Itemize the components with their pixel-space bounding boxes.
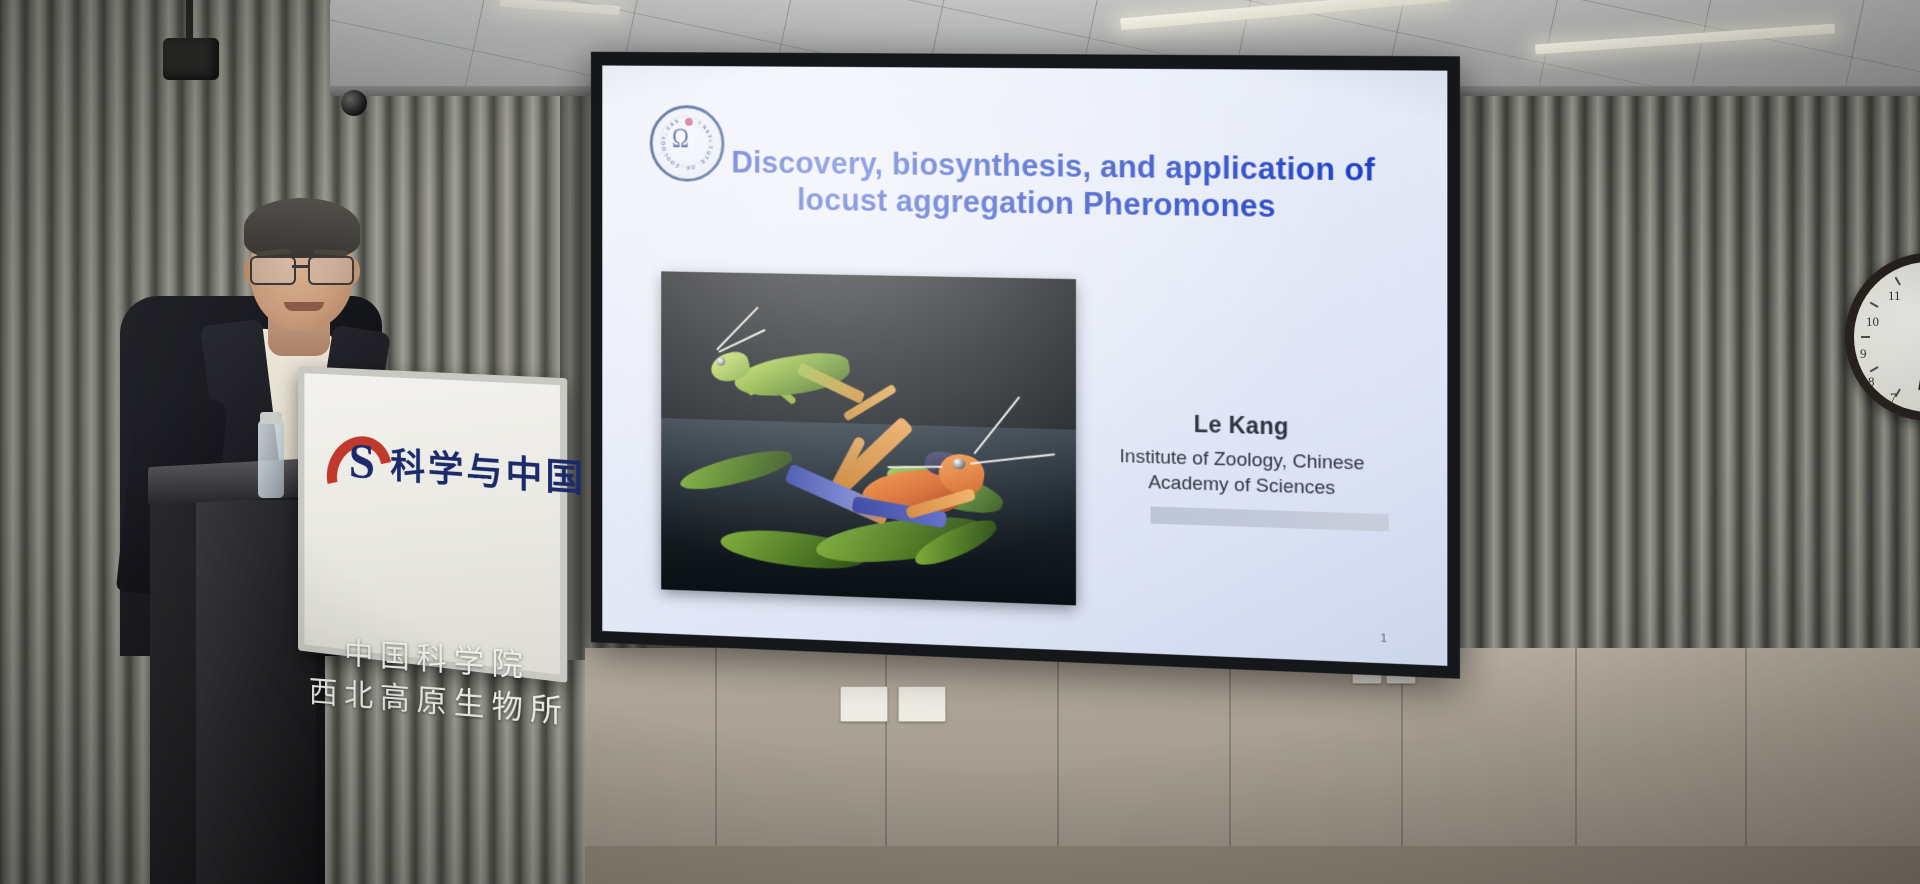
projection-screen-frame: Ω INSTITUTE OF ZOOLOGY,CAS Discovery, bi… [591, 52, 1460, 679]
water-bottle [258, 420, 284, 498]
clock-numeral: 11 [1888, 288, 1901, 304]
projected-slide: Ω INSTITUTE OF ZOOLOGY,CAS Discovery, bi… [602, 65, 1447, 665]
author-block: Le Kang Institute of Zoology, Chinese Ac… [1074, 408, 1412, 504]
baseboard [585, 846, 1920, 884]
slide-title: Discovery, biosynthesis, and application… [684, 144, 1403, 227]
clock-numeral: 10 [1866, 314, 1879, 330]
speaker-hair [244, 198, 360, 258]
locust-photo [661, 271, 1076, 605]
clock-numeral: 8 [1868, 374, 1875, 390]
camera-lens-icon [341, 90, 367, 116]
podium-brand-text: 科学与中国 [390, 437, 586, 503]
screenshot-root: 12 1 2 3 4 5 6 7 8 9 10 11 [0, 0, 1920, 884]
security-camera-icon [163, 38, 219, 80]
science-china-logo-icon: S [328, 431, 381, 495]
speaker-mouth [284, 302, 324, 311]
wall-outlet [898, 686, 946, 722]
speaker-eyeglasses-icon [250, 256, 356, 282]
wall-outlet [840, 686, 888, 722]
water-bottle-cap [260, 412, 282, 424]
redaction-bar [1151, 506, 1389, 531]
author-name: Le Kang [1074, 408, 1412, 445]
camera-mount-arm [186, 0, 193, 40]
logo-letter-s: S [349, 438, 375, 484]
clock-numeral: 7 [1890, 390, 1897, 406]
clock-numeral: 9 [1860, 346, 1867, 362]
slide-page-number: 1 [1380, 632, 1386, 645]
